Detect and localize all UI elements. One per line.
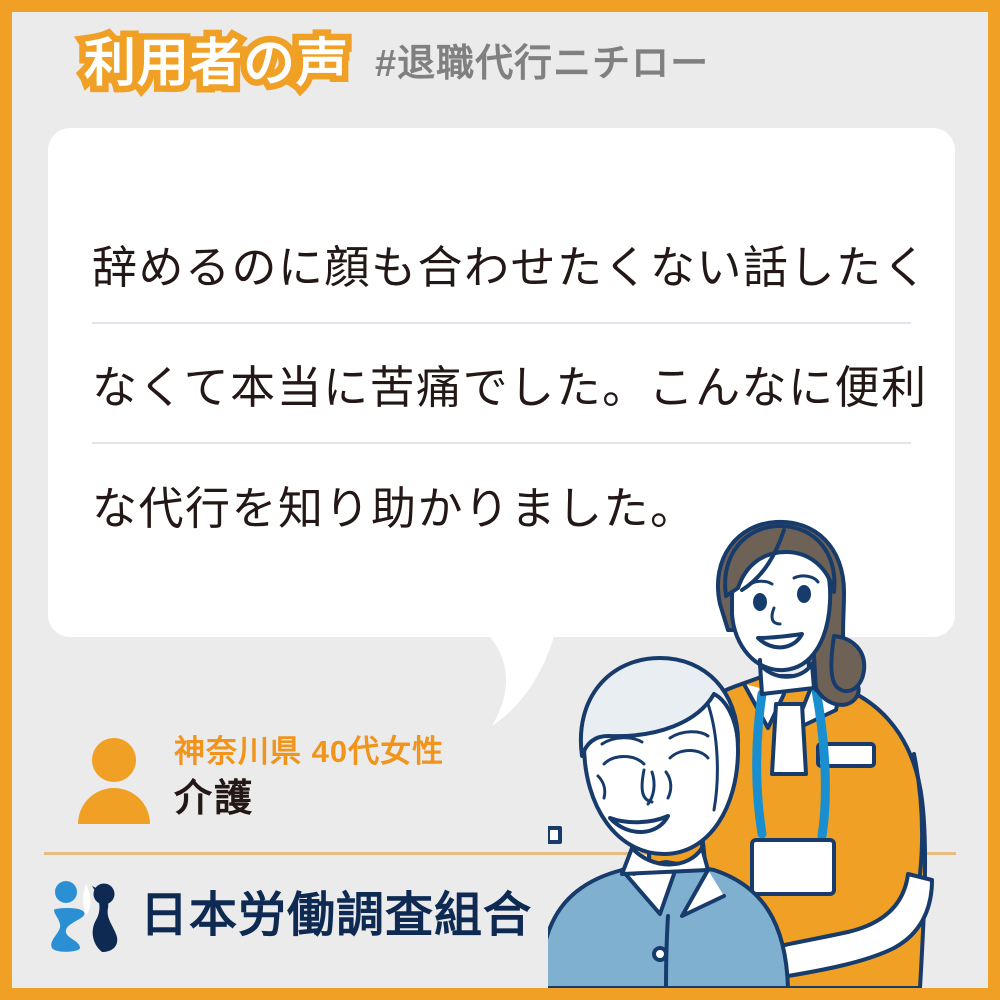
frame-border-bottom bbox=[0, 988, 1000, 1000]
profile-text: 神奈川県 40代女性 介護 bbox=[174, 736, 444, 818]
person-icon-head bbox=[92, 738, 136, 782]
frame-border-right bbox=[988, 0, 1000, 1000]
testimonial-quote: 辞めるのに顔も合わせたくない話したく なくて本当に苦痛でした。こんなに便利 な代… bbox=[48, 128, 955, 564]
organization-logo: 日本労働調査組合 bbox=[46, 878, 532, 954]
hashtag-label: #退職代行ニチロー bbox=[375, 45, 709, 83]
quote-line: なくて本当に苦痛でした。こんなに便利 bbox=[92, 324, 911, 444]
quote-line: 辞めるのに顔も合わせたくない話したく bbox=[92, 204, 911, 324]
profile-region-age-gender: 神奈川県 40代女性 bbox=[174, 736, 444, 767]
frame-border-left bbox=[0, 0, 12, 1000]
frame-border-top bbox=[0, 0, 1000, 12]
testimonial-card: 利用者の声 #退職代行ニチロー 辞めるのに顔も合わせたくない話したく なくて本当… bbox=[0, 0, 1000, 1000]
page-title: 利用者の声 bbox=[84, 38, 349, 90]
person-icon-body bbox=[78, 788, 150, 824]
profile-occupation: 介護 bbox=[174, 780, 444, 818]
caregiver-and-elderly-man-illustration bbox=[548, 518, 988, 988]
organization-name: 日本労働調査組合 bbox=[140, 892, 532, 940]
person-icon bbox=[78, 736, 150, 820]
card-header: 利用者の声 #退職代行ニチロー bbox=[0, 28, 1000, 100]
two-people-logo-icon bbox=[46, 878, 128, 954]
profile-block: 神奈川県 40代女性 介護 bbox=[78, 736, 444, 820]
